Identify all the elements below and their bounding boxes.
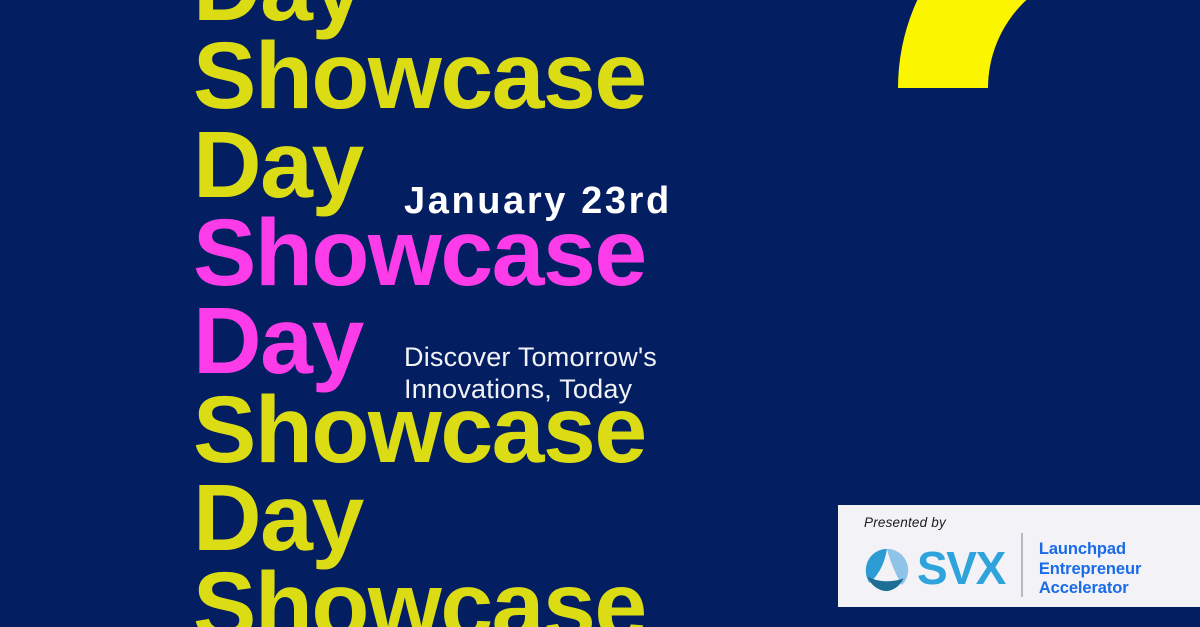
program-name: Launchpad Entrepreneur Accelerator <box>1039 540 1141 598</box>
event-date: January 23rd <box>404 180 672 223</box>
svx-circle-mark-icon <box>864 547 910 593</box>
word-line: Showcase <box>193 562 753 627</box>
svx-logo-lockup: SVX <box>864 547 1005 593</box>
presented-by-label: Presented by <box>864 515 1200 530</box>
arc-shape <box>898 0 1108 88</box>
tagline: Discover Tomorrow's Innovations, Today <box>404 342 744 406</box>
program-name-line-3: Accelerator <box>1039 579 1141 598</box>
yellow-arc-decoration <box>898 0 1200 298</box>
sponsor-row: SVX Launchpad Entrepreneur Accelerator <box>864 532 1200 607</box>
vertical-divider <box>1021 533 1023 597</box>
promo-banner: Day Showcase Day Showcase Day Showcase D… <box>0 0 1200 627</box>
program-name-line-2: Entrepreneur <box>1039 560 1141 579</box>
word-line: Showcase <box>193 32 753 120</box>
tagline-line-1: Discover Tomorrow's <box>404 342 744 374</box>
repeating-word-column: Day Showcase Day Showcase Day Showcase D… <box>193 0 753 627</box>
program-name-line-1: Launchpad <box>1039 540 1141 559</box>
sponsor-card: Presented by SVX Launchpad Entrepreneur … <box>838 505 1200 607</box>
svx-wordmark: SVX <box>917 545 1005 591</box>
tagline-line-2: Innovations, Today <box>404 374 744 406</box>
word-line: Day <box>193 474 753 562</box>
